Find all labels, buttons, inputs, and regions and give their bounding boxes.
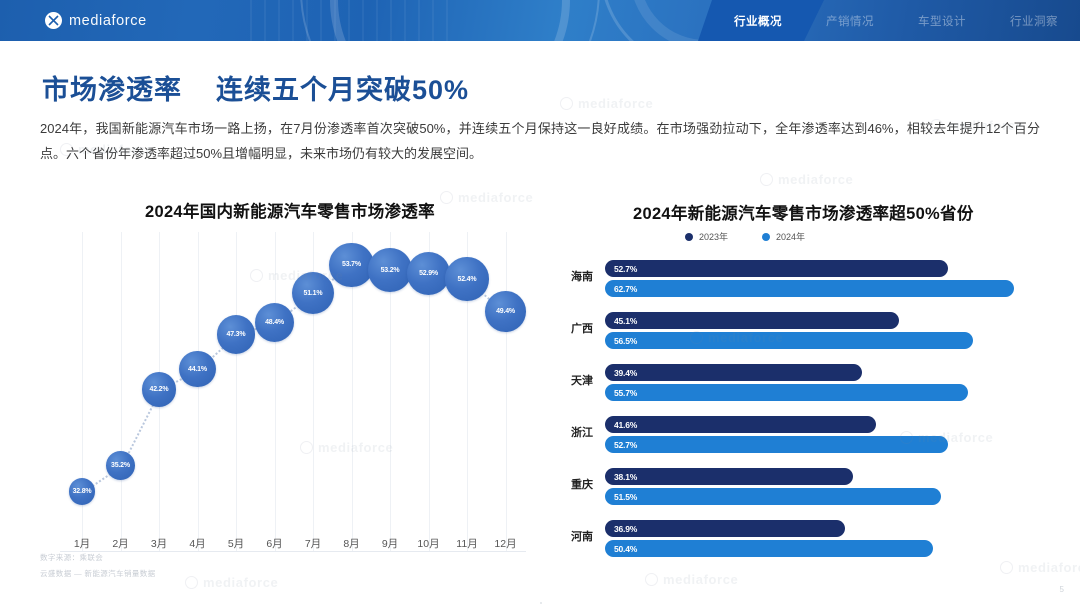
watermark-logo-icon bbox=[760, 173, 773, 186]
watermark-text: mediaforce bbox=[663, 572, 738, 587]
watermark-logo-icon bbox=[440, 191, 453, 204]
data-point-marker[interactable]: 47.3% bbox=[217, 315, 256, 354]
x-axis-label: 8月 bbox=[332, 536, 372, 551]
x-axis-label: 1月 bbox=[62, 536, 102, 551]
grid-line bbox=[506, 232, 507, 552]
watermark: mediaforce bbox=[185, 575, 278, 590]
grid-line bbox=[198, 232, 199, 552]
watermark: mediaforce bbox=[645, 572, 738, 587]
province-label: 天津 bbox=[545, 372, 593, 388]
bar-2023[interactable]: 39.4% bbox=[605, 364, 862, 381]
data-point-marker[interactable]: 44.1% bbox=[179, 351, 215, 387]
x-axis-label: 9月 bbox=[370, 536, 410, 551]
bar-2024[interactable]: 50.4% bbox=[605, 540, 933, 557]
bar-2024[interactable]: 55.7% bbox=[605, 384, 968, 401]
data-point-marker[interactable]: 52.9% bbox=[407, 252, 451, 296]
bar-row: 海南52.7%62.7% bbox=[545, 260, 1045, 306]
watermark-text: mediaforce bbox=[578, 96, 653, 111]
tab-industry-insight[interactable]: 行业洞察 bbox=[988, 0, 1080, 41]
bar-2023[interactable]: 38.1% bbox=[605, 468, 853, 485]
bar-row: 浙江41.6%52.7% bbox=[545, 416, 1045, 462]
x-axis-label: 7月 bbox=[293, 536, 333, 551]
province-bar-chart: 2023年 2024年 海南52.7%62.7%广西45.1%56.5%天津39… bbox=[545, 230, 1045, 560]
x-axis-label: 12月 bbox=[486, 536, 526, 551]
footer-dot bbox=[540, 602, 542, 604]
mediaforce-logo-icon bbox=[45, 12, 62, 29]
bar-2024[interactable]: 56.5% bbox=[605, 332, 973, 349]
data-point-marker[interactable]: 32.8% bbox=[69, 478, 96, 505]
page-header: mediaforce 行业概况 产销情况 车型设计 行业洞察 bbox=[0, 0, 1080, 41]
brand-name: mediaforce bbox=[69, 13, 147, 29]
x-axis-label: 6月 bbox=[255, 536, 295, 551]
bar-value-label: 52.7% bbox=[614, 440, 637, 450]
x-axis-label: 5月 bbox=[216, 536, 256, 551]
x-axis-label: 4月 bbox=[178, 536, 218, 551]
watermark-text: mediaforce bbox=[458, 190, 533, 205]
legend-dot-2023 bbox=[685, 233, 693, 241]
data-point-marker[interactable]: 53.7% bbox=[329, 243, 373, 287]
bar-value-label: 39.4% bbox=[614, 368, 637, 378]
legend-item-2023[interactable]: 2023年 bbox=[685, 230, 728, 243]
header-tabs: 行业概况 产销情况 车型设计 行业洞察 bbox=[712, 0, 1080, 41]
bar-value-label: 45.1% bbox=[614, 316, 637, 326]
brand-logo[interactable]: mediaforce bbox=[45, 12, 147, 29]
summary-paragraph: 2024年，我国新能源汽车市场一路上扬，在7月份渗透率首次突破50%，并连续五个… bbox=[40, 116, 1040, 166]
bar-row: 广西45.1%56.5% bbox=[545, 312, 1045, 358]
source-note-2: 云盛数据 — 新能源汽车销量数据 bbox=[40, 568, 156, 579]
bar-2024[interactable]: 62.7% bbox=[605, 280, 1014, 297]
header-stripe-decoration bbox=[250, 0, 450, 41]
watermark: mediaforce bbox=[440, 190, 533, 205]
watermark-text: mediaforce bbox=[778, 172, 853, 187]
bar-value-label: 50.4% bbox=[614, 544, 637, 554]
province-label: 广西 bbox=[545, 320, 593, 336]
x-axis-label: 10月 bbox=[409, 536, 449, 551]
left-chart-title: 2024年国内新能源汽车零售市场渗透率 bbox=[145, 198, 435, 222]
province-label: 重庆 bbox=[545, 476, 593, 492]
data-point-marker[interactable]: 35.2% bbox=[106, 451, 135, 480]
data-point-marker[interactable]: 52.4% bbox=[445, 257, 488, 300]
x-axis-label: 2月 bbox=[101, 536, 141, 551]
penetration-line-chart: 32.8%35.2%42.2%44.1%47.3%48.4%51.1%53.7%… bbox=[40, 232, 530, 552]
axis-baseline bbox=[60, 551, 526, 552]
page-number: 5 bbox=[1060, 585, 1064, 594]
watermark: mediaforce bbox=[560, 96, 653, 111]
bar-2023[interactable]: 36.9% bbox=[605, 520, 845, 537]
bar-2024[interactable]: 51.5% bbox=[605, 488, 941, 505]
province-label: 河南 bbox=[545, 528, 593, 544]
bar-row: 河南36.9%50.4% bbox=[545, 520, 1045, 566]
data-point-marker[interactable]: 53.2% bbox=[368, 248, 412, 292]
bar-2023[interactable]: 52.7% bbox=[605, 260, 948, 277]
tab-production-sales[interactable]: 产销情况 bbox=[804, 0, 896, 41]
province-label: 浙江 bbox=[545, 424, 593, 440]
bar-value-label: 56.5% bbox=[614, 336, 637, 346]
data-point-marker[interactable]: 51.1% bbox=[292, 272, 334, 314]
page-title: 市场渗透率 连续五个月突破50% bbox=[42, 68, 469, 107]
x-axis-label: 11月 bbox=[447, 536, 487, 551]
bar-2023[interactable]: 45.1% bbox=[605, 312, 899, 329]
bar-2023[interactable]: 41.6% bbox=[605, 416, 876, 433]
watermark: mediaforce bbox=[760, 172, 853, 187]
bar-chart-legend: 2023年 2024年 bbox=[685, 230, 805, 243]
watermark-logo-icon bbox=[185, 576, 198, 589]
bar-value-label: 41.6% bbox=[614, 420, 637, 430]
data-point-marker[interactable]: 42.2% bbox=[142, 372, 177, 407]
data-point-marker[interactable]: 48.4% bbox=[255, 303, 295, 343]
source-note-1: 数字来源：乘联会 bbox=[40, 552, 103, 563]
watermark-logo-icon bbox=[645, 573, 658, 586]
province-label: 海南 bbox=[545, 268, 593, 284]
bar-value-label: 38.1% bbox=[614, 472, 637, 482]
bar-value-label: 55.7% bbox=[614, 388, 637, 398]
x-axis-label: 3月 bbox=[139, 536, 179, 551]
data-point-marker[interactable]: 49.4% bbox=[485, 291, 526, 332]
grid-line bbox=[121, 232, 122, 552]
bar-2024[interactable]: 52.7% bbox=[605, 436, 948, 453]
tab-industry-overview[interactable]: 行业概况 bbox=[712, 0, 804, 41]
bar-value-label: 62.7% bbox=[614, 284, 637, 294]
tab-model-design[interactable]: 车型设计 bbox=[896, 0, 988, 41]
grid-line bbox=[236, 232, 237, 552]
bar-value-label: 51.5% bbox=[614, 492, 637, 502]
right-chart-title: 2024年新能源汽车零售市场渗透率超50%省份 bbox=[633, 200, 974, 224]
bar-row: 天津39.4%55.7% bbox=[545, 364, 1045, 410]
bar-value-label: 36.9% bbox=[614, 524, 637, 534]
legend-label-2024: 2024年 bbox=[776, 230, 805, 243]
grid-line bbox=[275, 232, 276, 552]
watermark-logo-icon bbox=[560, 97, 573, 110]
bar-row: 重庆38.1%51.5% bbox=[545, 468, 1045, 514]
bar-value-label: 52.7% bbox=[614, 264, 637, 274]
legend-dot-2024 bbox=[762, 233, 770, 241]
watermark-text: mediaforce bbox=[203, 575, 278, 590]
legend-label-2023: 2023年 bbox=[699, 230, 728, 243]
legend-item-2024[interactable]: 2024年 bbox=[762, 230, 805, 243]
slide-page: mediaforce 行业概况 产销情况 车型设计 行业洞察 市场渗透率 连续五… bbox=[0, 0, 1080, 608]
